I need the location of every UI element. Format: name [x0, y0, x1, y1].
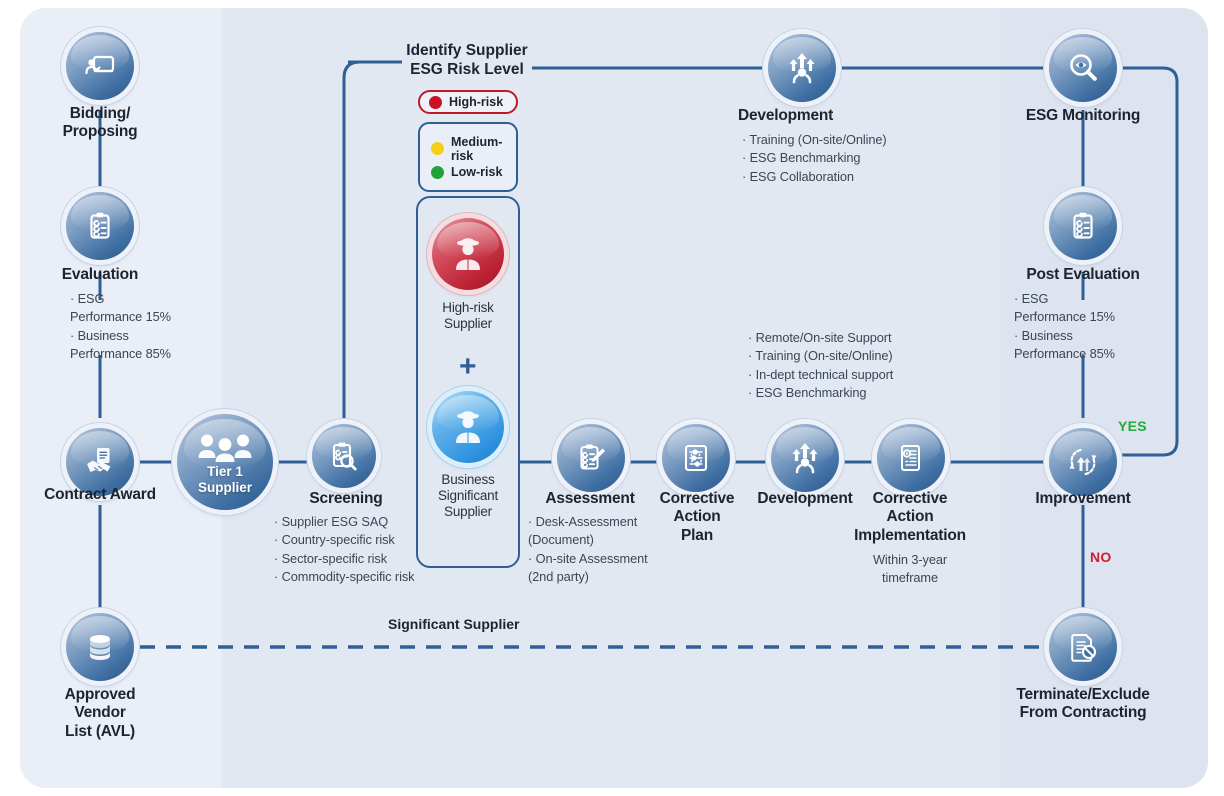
bullets-evaluation: · ESG Performance 15% · Business Perform…: [70, 290, 230, 364]
node-improvement[interactable]: [1049, 428, 1117, 496]
node-business-significant-supplier[interactable]: [432, 391, 504, 463]
risk-level-heading: Identify Supplier ESG Risk Level: [372, 42, 562, 79]
node-corrective-action-plan[interactable]: [662, 424, 730, 492]
legend-low-risk-label: Low-risk: [451, 165, 502, 179]
magnifier-eye-icon: [1049, 34, 1117, 102]
node-tier1-supplier[interactable]: Tier 1 Supplier: [177, 414, 273, 510]
person-red-icon: [432, 218, 504, 290]
node-high-risk-supplier[interactable]: [432, 218, 504, 290]
label-development-top: Development: [738, 107, 868, 125]
clipboard-magnifier-icon: [312, 424, 376, 488]
legend-low-risk[interactable]: Low-risk: [431, 165, 505, 179]
combiner-plus: +: [459, 352, 477, 382]
legend-medium-low-box: Medium-risk Low-risk: [418, 122, 518, 192]
legend-high-risk-label: High-risk: [449, 95, 503, 109]
medium-risk-dot: [431, 142, 444, 155]
label-assessment: Assessment: [520, 490, 660, 508]
node-screening[interactable]: [312, 424, 376, 488]
label-business-significant-supplier: Business Significant Supplier: [420, 472, 516, 520]
bullets-post-evaluation: · ESG Performance 15% · Business Perform…: [1014, 290, 1174, 364]
label-terminate-exclude: Terminate/Exclude From Contracting: [983, 686, 1183, 723]
node-development-top[interactable]: [768, 34, 836, 102]
document-blocked-icon: [1049, 613, 1117, 681]
legend-medium-risk[interactable]: Medium-risk: [431, 135, 505, 163]
label-high-risk-supplier: High-risk Supplier: [420, 300, 516, 332]
flowchart-document-icon: [662, 424, 730, 492]
label-post-evaluation: Post Evaluation: [1003, 266, 1163, 284]
clipboard-pen-icon: [557, 424, 625, 492]
node-approved-vendor-list[interactable]: [66, 613, 134, 681]
label-tier1-supplier: Tier 1 Supplier: [198, 464, 252, 495]
decision-yes-label: YES: [1118, 418, 1147, 434]
bullets-development-bottom: · Remote/On-site Support · Training (On-…: [748, 329, 998, 403]
node-corrective-action-implementation[interactable]: [877, 424, 945, 492]
node-bidding-proposing[interactable]: [66, 32, 134, 100]
node-development-bottom[interactable]: [771, 424, 839, 492]
label-evaluation: Evaluation: [20, 266, 180, 284]
label-contract-award: Contract Award: [10, 486, 190, 504]
database-icon: [66, 613, 134, 681]
label-esg-monitoring: ESG Monitoring: [1003, 107, 1163, 125]
label-corrective-action-implementation: Corrective Action Implementation: [845, 490, 975, 545]
node-assessment[interactable]: [557, 424, 625, 492]
node-esg-monitoring[interactable]: [1049, 34, 1117, 102]
node-post-evaluation[interactable]: [1049, 192, 1117, 260]
three-people-icon: Tier 1 Supplier: [177, 414, 273, 510]
cycle-arrows-icon: [1049, 428, 1117, 496]
low-risk-dot: [431, 166, 444, 179]
label-bidding-proposing: Bidding/ Proposing: [20, 105, 180, 142]
growth-arrows-icon: [768, 34, 836, 102]
decision-no-label: NO: [1090, 549, 1112, 565]
legend-high-risk[interactable]: High-risk: [418, 90, 518, 114]
label-approved-vendor-list: Approved Vendor List (AVL): [20, 686, 180, 741]
label-screening: Screening: [276, 490, 416, 508]
node-evaluation[interactable]: [66, 192, 134, 260]
node-terminate-exclude[interactable]: [1049, 613, 1117, 681]
label-improvement: Improvement: [1003, 490, 1163, 508]
clipboard-checklist-icon: [66, 192, 134, 260]
growth-arrows-icon: [771, 424, 839, 492]
note-corrective-action-implementation: Within 3-year timeframe: [845, 551, 975, 588]
esg-supply-chain-diagram: Bidding/ Proposing Evaluation · ESG Perf…: [0, 0, 1224, 796]
person-blue-icon: [432, 391, 504, 463]
document-gear-icon: [877, 424, 945, 492]
clipboard-checklist-icon: [1049, 192, 1117, 260]
legend-medium-risk-label: Medium-risk: [451, 135, 505, 163]
presentation-board-icon: [66, 32, 134, 100]
bullets-development-top: · Training (On-site/Online) · ESG Benchm…: [742, 131, 1002, 186]
significant-supplier-caption: Significant Supplier: [388, 616, 519, 632]
label-corrective-action-plan: Corrective Action Plan: [642, 490, 752, 545]
high-risk-dot: [429, 96, 442, 109]
